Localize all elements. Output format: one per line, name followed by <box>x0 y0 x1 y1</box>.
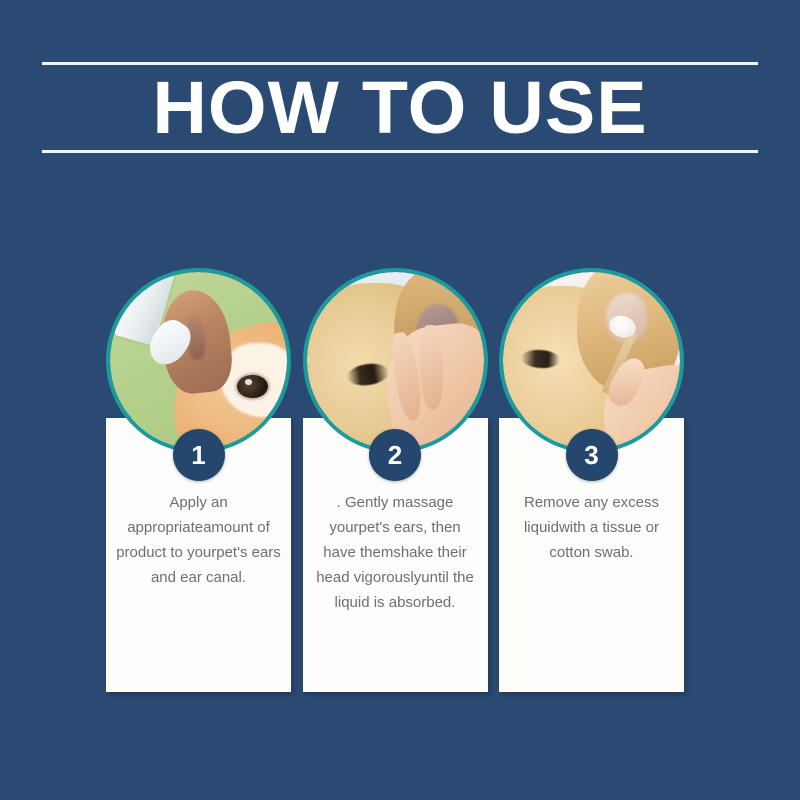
step-text-3: Remove any excess liquidwith a tissue or… <box>509 490 674 565</box>
step-text-1: Apply an appropriateamount of product to… <box>116 490 281 590</box>
page-title: HOW TO USE <box>35 70 765 146</box>
cotton-swab-cleaning-ear-icon <box>503 272 680 449</box>
title-rule-top <box>42 62 758 65</box>
step-photo-3 <box>499 268 684 453</box>
step-card-1: 1 Apply an appropriateamount of product … <box>106 268 291 698</box>
corgi-ear-dropper-icon <box>110 272 287 449</box>
hand-massaging-dog-ear-icon <box>307 272 484 449</box>
step-card-2: 2 . Gently massage yourpet's ears, then … <box>303 268 488 698</box>
title-rule-bottom <box>42 150 758 153</box>
step-badge-2: 2 <box>369 429 421 481</box>
step-text-2: . Gently massage yourpet's ears, then ha… <box>313 490 478 615</box>
step-photo-1 <box>106 268 291 453</box>
steps-row: 1 Apply an appropriateamount of product … <box>106 268 684 698</box>
step-badge-1: 1 <box>173 429 225 481</box>
step-photo-2 <box>303 268 488 453</box>
header: HOW TO USE <box>42 58 758 158</box>
how-to-use-infographic: { "header": { "title": "HOW TO USE" }, "… <box>0 0 800 800</box>
step-card-3: 3 Remove any excess liquidwith a tissue … <box>499 268 684 698</box>
step-badge-3: 3 <box>566 429 618 481</box>
